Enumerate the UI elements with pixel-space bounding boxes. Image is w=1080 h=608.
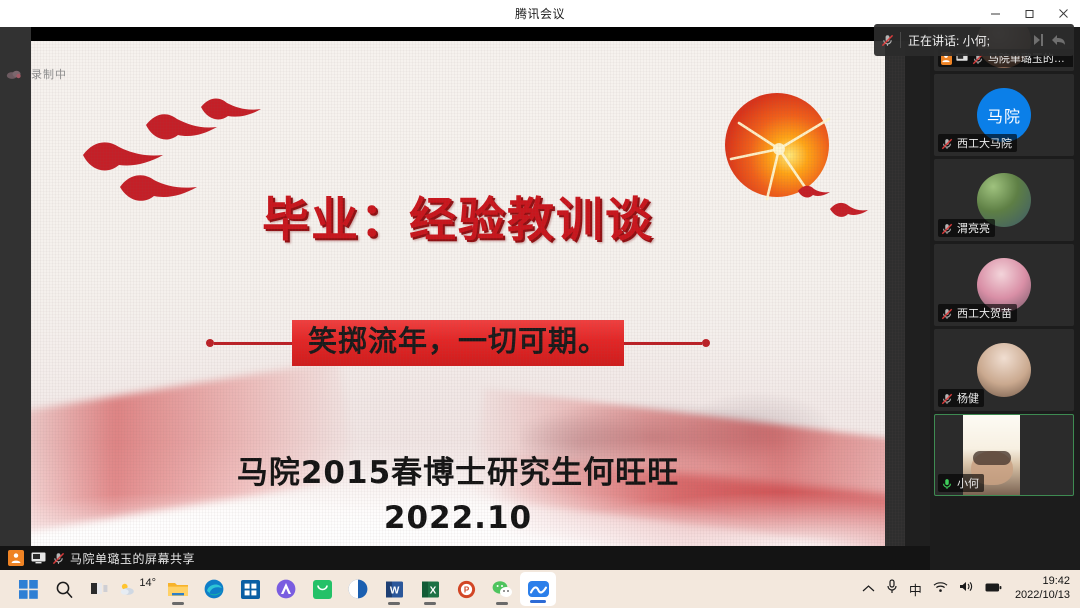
powerpoint-icon[interactable]: P [448, 570, 484, 608]
task-view-icon[interactable] [82, 570, 118, 608]
file-explorer-icon[interactable] [160, 570, 196, 608]
mic-muted-icon [941, 307, 953, 320]
participant-name: 渭亮亮 [957, 220, 990, 236]
rule-line-right [624, 342, 702, 345]
lark-app-icon[interactable] [340, 570, 376, 608]
svg-text:P: P [463, 585, 469, 594]
share-right-gutter [885, 41, 905, 546]
recording-cloud-icon [6, 68, 22, 80]
svg-text:W: W [389, 585, 399, 596]
wechat-icon[interactable] [484, 570, 520, 608]
rule-left [206, 339, 292, 347]
weather-widget[interactable]: 14° [118, 570, 160, 608]
excel-icon[interactable]: X [412, 570, 448, 608]
close-button[interactable] [1046, 0, 1080, 27]
participant-label: 杨健 [938, 389, 984, 407]
recording-label: 录制中 [28, 65, 70, 83]
word-icon[interactable]: W [376, 570, 412, 608]
slide-date: 2022.10 [31, 496, 885, 541]
participant-label: 西工大贺苗 [938, 304, 1017, 322]
divider [900, 32, 901, 48]
system-tray[interactable]: 中 19:42 2022/10/13 [862, 575, 1080, 603]
share-top-band [31, 27, 928, 41]
avatar [977, 343, 1031, 397]
rule-right [624, 339, 710, 347]
running-indicator [530, 600, 546, 603]
slide-presenter-block: 马院2015春博士研究生何旺旺 2022.10 [31, 451, 885, 541]
participant-name: 杨健 [957, 390, 979, 406]
dove-icon [199, 93, 265, 129]
slide-subtitle: 笑掷流年，一切可期。 [292, 320, 624, 366]
green-bag-app-icon[interactable] [304, 570, 340, 608]
battery-icon[interactable] [985, 580, 1002, 598]
rule-dot-left [206, 339, 214, 347]
edge-browser-icon[interactable] [196, 570, 232, 608]
mic-muted-icon [941, 392, 953, 405]
alist-app-icon[interactable] [268, 570, 304, 608]
participant-label: 西工大马院 [938, 134, 1017, 152]
participant-label: 小何 [938, 474, 984, 492]
weather-temperature: 14° [139, 577, 156, 589]
wifi-icon[interactable] [933, 580, 948, 598]
clock-time: 19:42 [1042, 575, 1070, 589]
mic-muted-icon [941, 222, 953, 235]
participant-name: 西工大马院 [957, 135, 1012, 151]
clock-date: 2022/10/13 [1015, 589, 1070, 603]
back-arrow-icon [1050, 32, 1067, 48]
ime-indicator[interactable]: 中 [909, 580, 922, 599]
running-indicator [172, 602, 184, 605]
participant-tile[interactable]: 杨健 [934, 329, 1074, 411]
participant-tile[interactable]: 渭亮亮 [934, 159, 1074, 241]
tencent-meeting-icon[interactable] [520, 572, 556, 606]
left-gutter [0, 27, 31, 546]
meeting-body: 毕业：经验教训谈 笑掷流年，一切可期。 马院2015春博士研究生何旺旺 2022… [0, 27, 1080, 570]
volume-icon[interactable] [959, 580, 974, 598]
slide-title: 毕业：经验教训谈 [31, 181, 885, 250]
window-title: 腾讯会议 [515, 5, 565, 22]
speaking-label: 正在讲话: 小何; [908, 32, 990, 49]
windows-taskbar[interactable]: 14° W [0, 570, 1080, 608]
collapse-arrow-icon [1031, 32, 1048, 48]
running-indicator [424, 602, 436, 605]
search-icon[interactable] [46, 570, 82, 608]
screen-share-bar: 马院单璐玉的屏幕共享 [0, 546, 938, 570]
minimize-button[interactable] [978, 0, 1012, 27]
host-icon [8, 550, 24, 566]
participant-tile[interactable]: 马院 西工大马院 [934, 74, 1074, 156]
microphone-icon[interactable] [886, 579, 898, 599]
mic-on-icon [941, 477, 953, 490]
slide-presenter-name: 马院2015春博士研究生何旺旺 [31, 451, 885, 496]
speaking-overlay: 正在讲话: 小何; [874, 24, 1074, 56]
tencent-meeting-window: 腾讯会议 [0, 0, 1080, 608]
rule-dot-right [702, 339, 710, 347]
clock[interactable]: 19:42 2022/10/13 [1013, 575, 1070, 603]
shared-screen-slide[interactable]: 毕业：经验教训谈 笑掷流年，一切可期。 马院2015春博士研究生何旺旺 2022… [31, 41, 905, 546]
mic-muted-icon [52, 552, 64, 565]
svg-text:X: X [429, 585, 436, 596]
start-button[interactable] [10, 570, 46, 608]
participant-label: 渭亮亮 [938, 219, 995, 237]
participant-name: 小何 [957, 475, 979, 491]
screen-share-owner: 马院单璐玉的屏幕共享 [70, 550, 195, 567]
mic-muted-icon [941, 137, 953, 150]
screen-share-icon [30, 551, 46, 565]
participant-tile-active-speaker[interactable]: 小何 [934, 414, 1074, 496]
maximize-button[interactable] [1012, 0, 1046, 27]
mic-muted-icon [881, 34, 893, 47]
participant-name: 西工大贺苗 [957, 305, 1012, 321]
participant-tile[interactable]: 西工大贺苗 [934, 244, 1074, 326]
running-indicator [496, 602, 508, 605]
running-indicator [388, 602, 400, 605]
participant-rail[interactable]: 马院单璐玉的屏幕... 马院 西工大马院 渭亮亮 [930, 27, 1080, 570]
recording-indicator: 录制中 [6, 65, 70, 83]
show-hidden-icons-icon[interactable] [862, 580, 875, 598]
window-controls [978, 0, 1080, 27]
overlay-arrows[interactable] [1031, 32, 1067, 48]
slide-subtitle-row: 笑掷流年，一切可期。 [31, 318, 885, 368]
taskbar-icons: 14° W [0, 570, 556, 608]
microsoft-store-icon[interactable] [232, 570, 268, 608]
rule-line-left [214, 342, 292, 345]
